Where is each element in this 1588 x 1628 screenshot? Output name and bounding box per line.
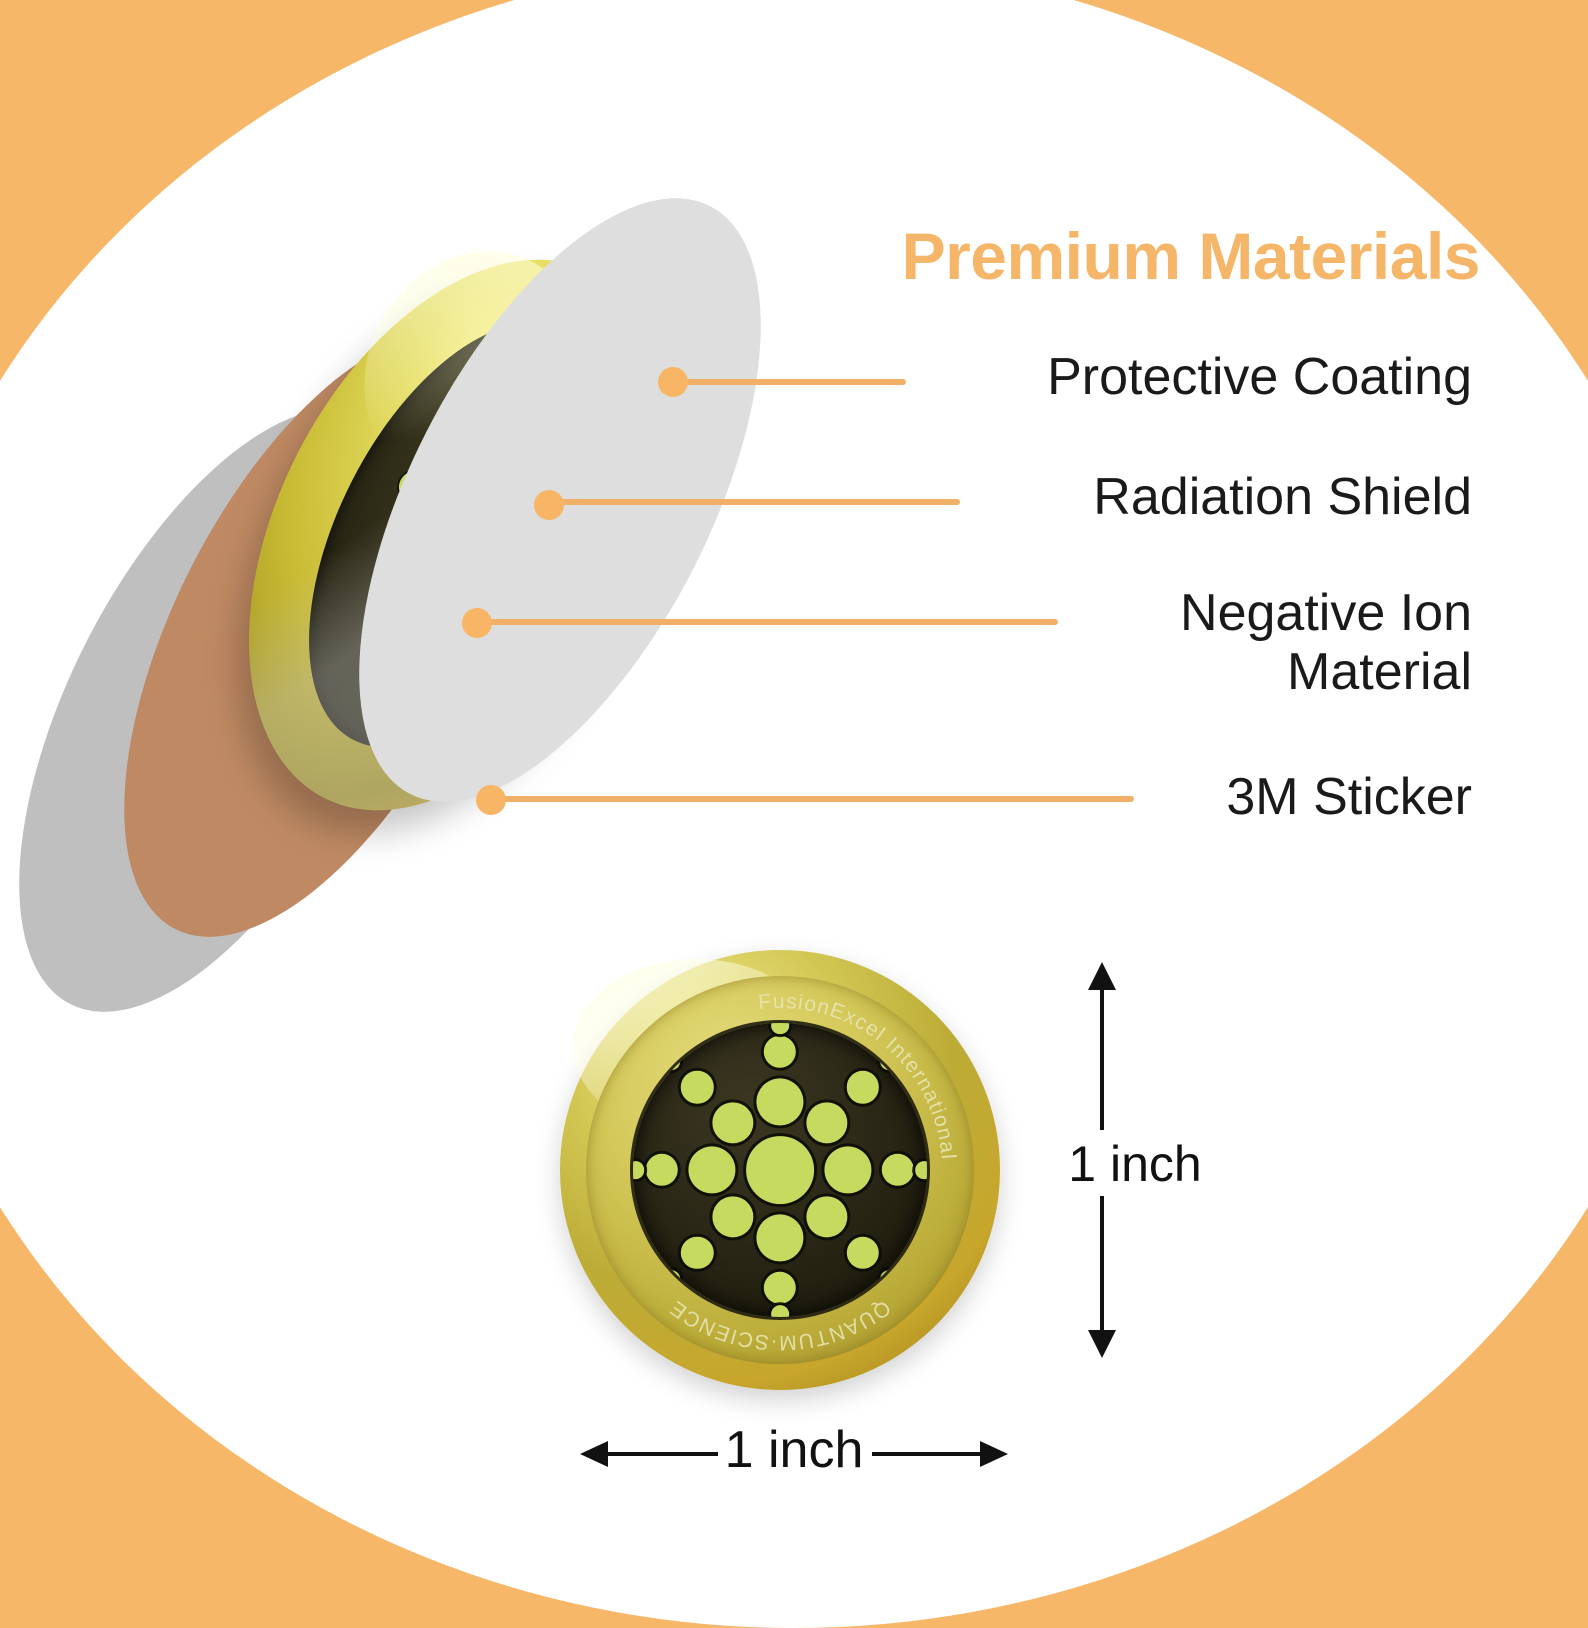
callout-dot-3m-sticker[interactable]: [476, 785, 506, 815]
callout-dot-protective-coating[interactable]: [658, 367, 688, 397]
callout-label-negative-ion: Negative Ion Material: [920, 584, 1472, 702]
callout-dot-radiation-shield[interactable]: [534, 490, 564, 520]
callout-label-3m-sticker: 3M Sticker: [920, 768, 1472, 827]
infographic-canvas: Premium Materials: [0, 0, 1588, 1588]
dimension-label-width: 1 inch: [578, 1420, 1010, 1480]
callout-line-radiation-shield: [560, 499, 960, 505]
callout-label-protective-coating: Protective Coating: [920, 348, 1472, 407]
callout-label-radiation-shield: Radiation Shield: [920, 468, 1472, 527]
quantum-science-disc: FusionExcel International QUANTUM·SCIENC…: [560, 950, 1000, 1390]
dimension-label-height: 1 inch: [1010, 1135, 1260, 1193]
callout-dot-negative-ion[interactable]: [462, 608, 492, 638]
exploded-layer-diagram: [0, 130, 900, 890]
disc-dark-face: [633, 1023, 928, 1318]
callout-line-protective-coating: [684, 379, 906, 385]
